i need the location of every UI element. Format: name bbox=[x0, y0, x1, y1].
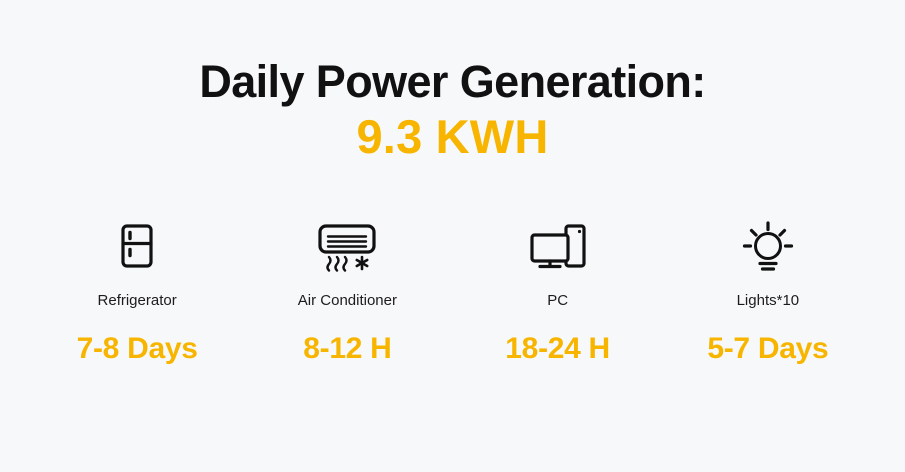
appliance-duration: 18-24 H bbox=[505, 331, 610, 367]
daily-generation-value: 9.3 KWH bbox=[0, 110, 905, 164]
appliance-item-pc: PC 18-24 H bbox=[453, 215, 663, 367]
appliance-label: PC bbox=[547, 291, 568, 311]
headline-block: Daily Power Generation: 9.3 KWH bbox=[0, 56, 905, 164]
appliance-duration: 8-12 H bbox=[303, 331, 391, 367]
pc-icon bbox=[528, 215, 588, 277]
appliance-list: Refrigerator 7-8 Days bbox=[0, 215, 905, 367]
appliance-item-refrigerator: Refrigerator 7-8 Days bbox=[32, 215, 242, 367]
appliance-label: Lights*10 bbox=[737, 291, 800, 311]
page-title: Daily Power Generation: bbox=[0, 56, 905, 108]
air-conditioner-icon bbox=[316, 215, 378, 277]
appliance-item-lights: Lights*10 5-7 Days bbox=[663, 215, 873, 367]
appliance-duration: 7-8 Days bbox=[77, 331, 198, 367]
appliance-label: Refrigerator bbox=[98, 291, 177, 311]
appliance-label: Air Conditioner bbox=[298, 291, 397, 311]
power-generation-poster: Daily Power Generation: 9.3 KWH Refriger… bbox=[0, 0, 905, 472]
light-bulb-icon bbox=[742, 215, 794, 277]
appliance-item-air-conditioner: Air Conditioner 8-12 H bbox=[242, 215, 452, 367]
appliance-duration: 5-7 Days bbox=[707, 331, 828, 367]
refrigerator-icon bbox=[117, 215, 157, 277]
